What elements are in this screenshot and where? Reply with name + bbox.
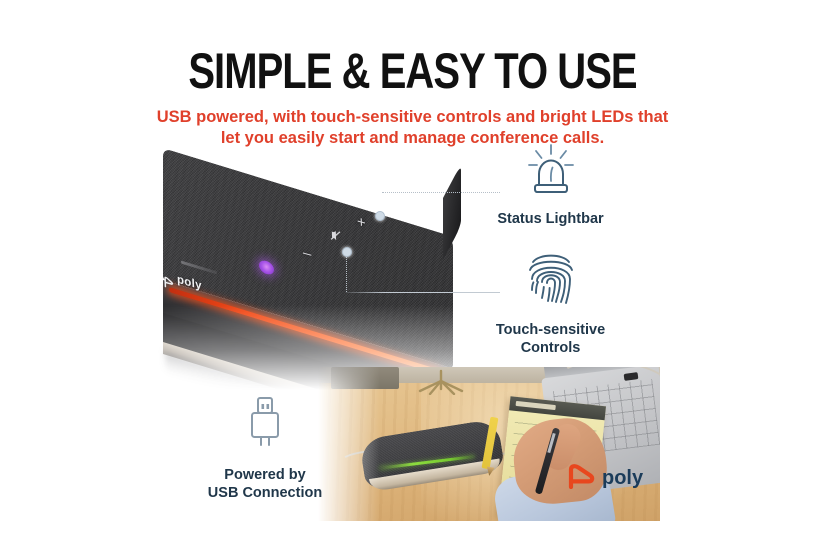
callout-dot-touch-controls	[342, 247, 352, 257]
marketing-infographic: SIMPLE & EASY TO USE USB powered, with t…	[0, 0, 825, 550]
product-hero-fade-layer: – + poly	[155, 140, 485, 390]
feature-touch-sensitive-controls: Touch-sensitive Controls	[478, 246, 623, 357]
poly-logo-mark-device	[163, 274, 175, 289]
volume-up-icon: +	[357, 215, 366, 231]
mute-icon	[329, 227, 343, 247]
product-hero-image: – + poly	[155, 140, 485, 390]
beacon-light-icon	[478, 143, 623, 202]
callout-dot-lightbar	[375, 211, 385, 221]
feature-status-lightbar: Status Lightbar	[478, 143, 623, 228]
feature-label-touch-controls: Touch-sensitive Controls	[478, 321, 623, 357]
monitor-stand	[331, 367, 399, 389]
volume-down-icon: –	[303, 246, 312, 261]
lifestyle-photo: poly	[318, 367, 660, 521]
leader-line-touch-horizontal	[346, 292, 500, 293]
feature-label-status-lightbar: Status Lightbar	[478, 210, 623, 228]
fingerprint-icon	[478, 246, 623, 313]
notepad-header-label	[516, 401, 556, 410]
poly-logo-lifestyle: poly	[566, 463, 650, 489]
leader-line-touch-vertical	[346, 252, 347, 292]
page-title: SIMPLE & EASY TO USE	[83, 44, 743, 98]
poly-wordmark-lifestyle: poly	[602, 467, 644, 489]
